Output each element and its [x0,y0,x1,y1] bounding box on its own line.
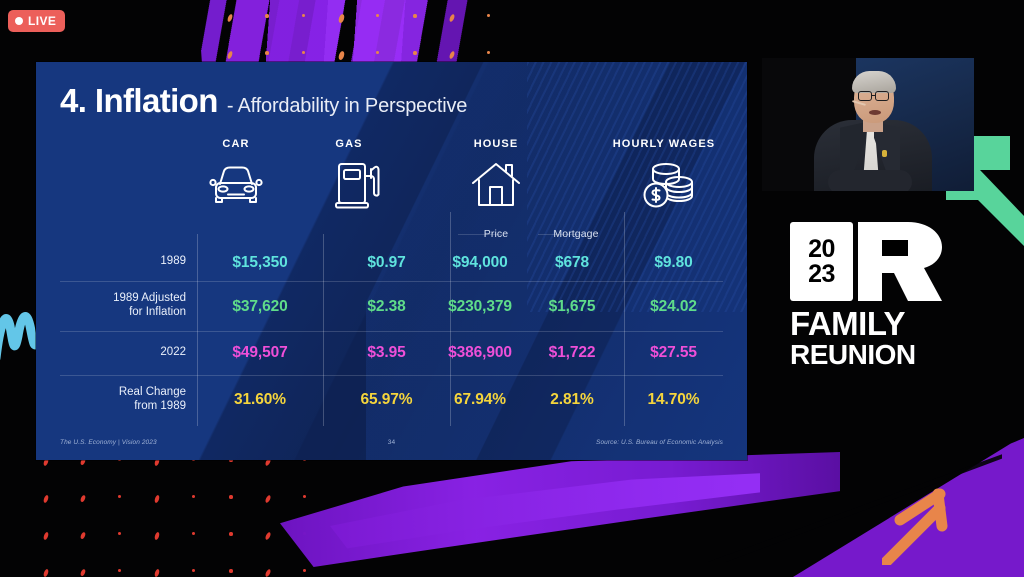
row-label: 1989 [60,255,186,269]
decorative-dot [118,495,121,498]
decorative-dot [487,14,490,17]
logo-year-top: 20 [808,237,835,262]
speaker-video-feed[interactable] [762,58,974,191]
decorative-dot [192,495,195,498]
decorative-dot [118,569,121,572]
footer-page-number: 34 [388,439,395,446]
decorative-dot [302,51,305,54]
cell-2022-house-price: $386,900 [440,344,520,362]
decorative-dot [80,495,86,503]
decorative-dot [43,569,49,577]
decorative-dot [449,51,456,60]
decorative-dot [229,532,233,536]
blue-squiggle-icon [0,296,40,366]
decorative-dot [303,495,306,498]
cell-2022-car: $49,507 [197,344,323,362]
column-header-house: HOUSE [436,138,556,150]
decorative-dot [302,14,305,17]
cell-realchange-house-mortgage: 2.81% [522,391,622,409]
row-label: 2022 [60,346,186,360]
decorative-dot [487,51,490,54]
decorative-dot [80,532,86,540]
cell-adjusted-car: $37,620 [197,298,323,316]
decorative-dot [118,532,121,535]
logo-year-box: 20 23 [790,222,853,301]
cell-realchange-house-price: 67.94% [440,391,520,409]
coins-icon [640,160,696,215]
speaker-hair [852,71,896,93]
decorative-dot [303,532,306,535]
slide-footer: The U.S. Economy | Vision 2023 34 Source… [60,438,723,452]
logo-r-mark [858,222,942,301]
row-label: 1989 Adjusted for Inflation [60,292,186,319]
decorative-dot [192,532,195,535]
decorative-dot [376,14,379,17]
cell-adjusted-hourly-wages: $24.02 [624,298,723,316]
family-reunion-logo: 20 23 FAMILY REUNION [790,222,942,376]
decorative-dot [303,569,306,572]
speaker-lapel-pin [882,150,887,157]
decorative-dot [154,532,160,541]
cell-2022-gas: $3.95 [323,344,450,362]
slide-title-subtitle: - Affordability in Perspective [227,95,467,118]
decorative-dot [229,569,233,573]
decorative-dot [413,14,417,18]
table-row: Real Change from 1989 31.60% 65.97% 67.9… [60,375,723,425]
decorative-dot [227,14,234,23]
cell-2022-hourly-wages: $27.55 [624,344,723,362]
row-label: Real Change from 1989 [60,386,186,413]
presentation-slide: 4. Inflation - Affordability in Perspect… [36,62,747,460]
speaker-glasses-right-lens [875,91,889,101]
decorative-dot [338,51,345,61]
purple-brush-stroke-bottom [280,452,840,567]
table-row: 1989 $15,350 $0.97 $94,000 $678 $9.80 [60,244,723,281]
column-header-hourly-wages: HOURLY WAGES [594,138,734,150]
decorative-dot [413,51,417,55]
decorative-dot [154,495,160,504]
speaker-glasses-left-lens [858,91,872,101]
orange-arrow-icon [882,460,1002,565]
logo-word-reunion: REUNION [790,339,942,370]
decorative-dot [449,14,456,23]
cell-realchange-hourly-wages: 14.70% [624,391,723,409]
cell-adjusted-house-mortgage: $1,675 [522,298,622,316]
decorative-dot [265,51,269,55]
cell-1989-gas: $0.97 [323,254,450,272]
purple-wedge-cut [702,452,1002,562]
table-tick-price [458,234,502,235]
decorative-dot [43,532,49,541]
logo-year-bottom: 23 [808,262,835,287]
purple-brush-stroke-bottom-secondary [330,470,760,550]
cell-adjusted-house-price: $230,379 [440,298,520,316]
cell-realchange-gas: 65.97% [323,391,450,409]
cell-1989-car: $15,350 [197,254,323,272]
table-row: 2022 $49,507 $3.95 $386,900 $1,722 $27.5… [60,331,723,375]
decorative-dot [229,495,233,499]
cell-1989-hourly-wages: $9.80 [624,254,723,272]
cell-adjusted-gas: $2.38 [323,298,450,316]
decorative-dot [43,495,49,504]
live-label: LIVE [28,14,56,28]
decorative-dot [264,532,271,541]
live-dot-icon [15,17,23,25]
logo-wordmark: FAMILY REUNION [790,308,942,370]
decorative-dot [265,14,269,18]
footer-deck-name: The U.S. Economy | Vision 2023 [60,439,157,446]
table-tick-mortgage [538,234,582,235]
column-header-gas: GAS [286,138,412,150]
speaker-glasses-bridge [871,95,876,96]
speaker-crossed-arms [828,170,912,191]
decorative-dot [264,495,271,504]
decorative-dot [192,569,195,572]
slide-title-main: 4. Inflation [60,82,218,120]
cell-realchange-car: 31.60% [197,391,323,409]
logo-word-family: FAMILY [790,308,942,339]
column-header-car: CAR [176,138,296,150]
cell-1989-house-price: $94,000 [440,254,520,272]
cell-2022-house-mortgage: $1,722 [522,344,622,362]
decorative-dot [154,569,160,577]
cell-1989-house-mortgage: $678 [522,254,622,272]
table-row: 1989 Adjusted for Inflation $37,620 $2.3… [60,281,723,331]
house-icon [470,160,522,215]
car-icon [208,162,264,213]
decorative-dot [227,51,234,60]
decorative-dot [376,51,379,54]
slide-title: 4. Inflation - Affordability in Perspect… [60,82,467,120]
speaker-mouth [869,110,881,115]
live-badge: LIVE [8,10,65,32]
decorative-dot [264,569,271,577]
decorative-dot [338,14,345,24]
decorative-dot [80,569,86,577]
footer-source: Source: U.S. Bureau of Economic Analysis [596,439,723,446]
gas-pump-icon [333,160,385,215]
